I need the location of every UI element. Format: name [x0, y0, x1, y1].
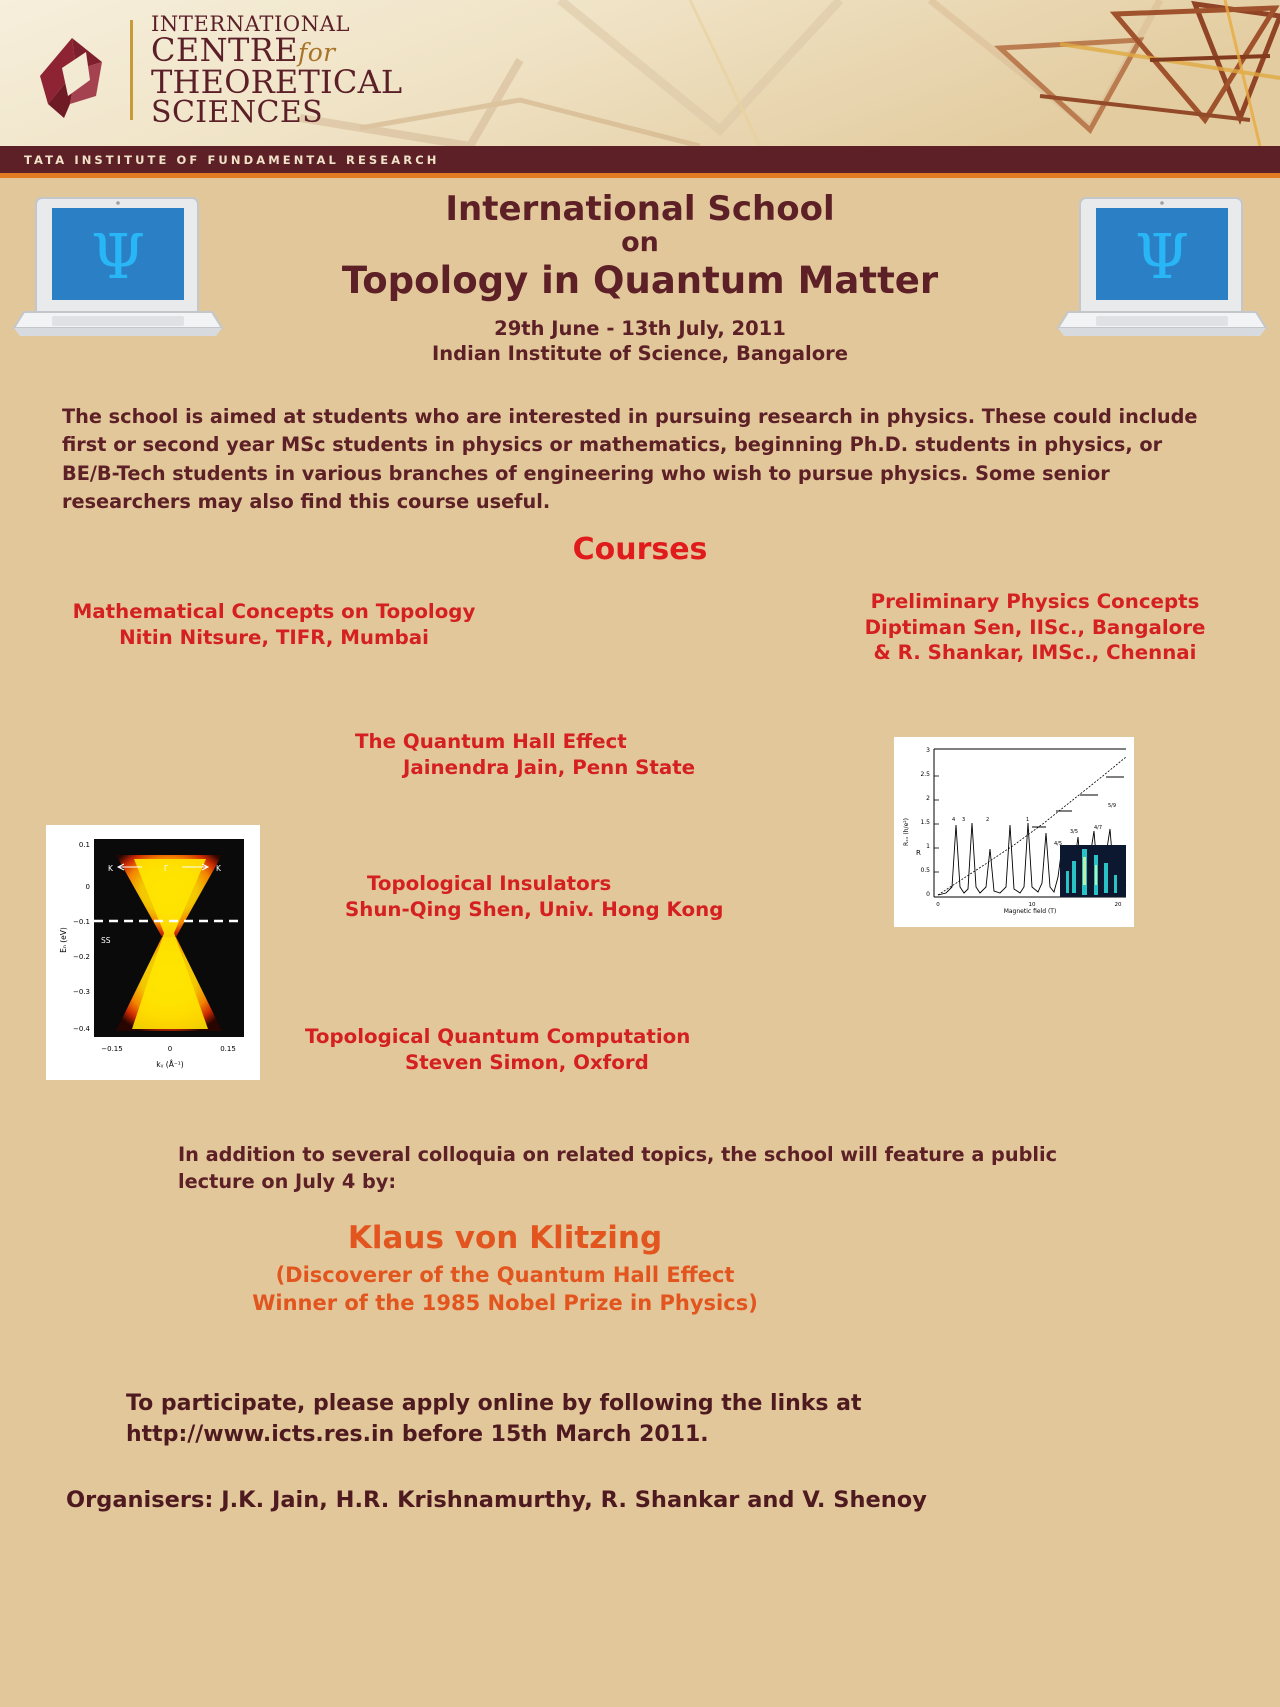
svg-text:Eₙ (eV): Eₙ (eV) [59, 927, 68, 953]
svg-text:2: 2 [926, 795, 930, 802]
svg-text:2: 2 [986, 817, 989, 823]
svg-text:R: R [916, 849, 921, 857]
course-item-0: Mathematical Concepts on Topology Nitin … [34, 599, 514, 650]
svg-text:3/5: 3/5 [1070, 829, 1078, 835]
course-speaker: Jainendra Jain, Penn State [355, 755, 695, 781]
course-title: Topological Insulators [345, 871, 723, 897]
apply-instructions: To participate, please apply online by f… [126, 1388, 1146, 1451]
svg-text:3: 3 [962, 817, 965, 823]
laptop-illustration-left: Ψ [8, 190, 228, 355]
svg-text:0.5: 0.5 [920, 867, 930, 874]
logo-line-theoretical: THEORETICAL [151, 67, 402, 99]
svg-text:0.15: 0.15 [220, 1045, 236, 1053]
arpes-dirac-cone-figure: K Γ K SS 0.10 −0.1−0.2 −0.3−0.4 Eₙ (eV) … [46, 825, 260, 1080]
svg-text:−0.4: −0.4 [73, 1025, 91, 1033]
svg-text:4: 4 [952, 817, 955, 823]
public-lecture-credential-2: Winner of the 1985 Nobel Prize in Physic… [0, 1290, 1010, 1318]
icts-diamond-logo-icon [34, 18, 112, 128]
svg-text:2.5: 2.5 [920, 771, 930, 778]
svg-text:Ψ: Ψ [91, 220, 145, 293]
svg-text:0: 0 [168, 1045, 172, 1053]
svg-text:1: 1 [1026, 817, 1029, 823]
svg-text:1.5: 1.5 [920, 819, 930, 826]
course-speaker: Steven Simon, Oxford [305, 1050, 690, 1076]
svg-text:0: 0 [926, 891, 930, 898]
courses-heading: Courses [0, 532, 1280, 567]
course-item-3: Topological Insulators Shun-Qing Shen, U… [345, 871, 723, 922]
header-banner: INTERNATIONAL CENTREfor THEORETICAL SCIE… [0, 0, 1280, 146]
course-speaker: Diptiman Sen, IISc., Bangalore [820, 615, 1250, 641]
quantum-hall-resistance-figure: 32.5 21.5 10.5 0 Rₓₓ (h/e²) R [894, 737, 1134, 927]
svg-text:0: 0 [86, 883, 90, 891]
course-speaker: Shun-Qing Shen, Univ. Hong Kong [345, 897, 723, 923]
svg-text:−0.1: −0.1 [73, 918, 90, 926]
svg-text:10: 10 [1029, 902, 1036, 908]
svg-text:3: 3 [926, 747, 930, 754]
course-item-4: Topological Quantum Computation Steven S… [305, 1024, 690, 1075]
svg-text:0.1: 0.1 [79, 841, 90, 849]
apply-url[interactable]: http://www.icts.res.in [126, 1422, 394, 1447]
icts-logo: INTERNATIONAL CENTREfor THEORETICAL SCIE… [34, 14, 402, 128]
course-title: Preliminary Physics Concepts [820, 589, 1250, 615]
svg-text:Rₓₓ (h/e²): Rₓₓ (h/e²) [903, 818, 910, 846]
apply-deadline: before 15th March 2011. [402, 1422, 709, 1447]
organisers-line: Organisers: J.K. Jain, H.R. Krishnamurth… [66, 1487, 1280, 1513]
apply-text-prefix: To participate, please apply online by f… [126, 1391, 862, 1416]
svg-text:−0.15: −0.15 [101, 1045, 122, 1053]
logo-line-sciences: SCIENCES [151, 98, 402, 128]
logo-divider-rule [130, 20, 133, 120]
svg-text:Magnetic field (T): Magnetic field (T) [1004, 908, 1057, 915]
courses-top-row: Mathematical Concepts on Topology Nitin … [0, 589, 1280, 693]
public-lecture-speaker: Klaus von Klitzing [0, 1220, 1010, 1256]
course-title: Mathematical Concepts on Topology [34, 599, 514, 625]
public-lecture-credential-1: (Discoverer of the Quantum Hall Effect [0, 1262, 1010, 1290]
course-speaker-2: & R. Shankar, IMSc., Chennai [820, 640, 1250, 666]
svg-text:1: 1 [926, 843, 930, 850]
svg-text:5/9: 5/9 [1108, 803, 1116, 809]
svg-text:Ψ: Ψ [1135, 220, 1189, 293]
public-lecture-intro: In addition to several colloquia on rela… [178, 1141, 1098, 1196]
svg-text:0: 0 [936, 902, 940, 908]
course-title: Topological Quantum Computation [305, 1024, 690, 1050]
laptop-illustration-right: Ψ [1052, 190, 1272, 355]
svg-text:SS: SS [101, 936, 111, 945]
svg-text:−0.3: −0.3 [73, 988, 90, 996]
course-title: The Quantum Hall Effect [355, 729, 695, 755]
svg-text:4/7: 4/7 [1094, 825, 1102, 831]
courses-middle-zone: 32.5 21.5 10.5 0 Rₓₓ (h/e²) R [0, 729, 1280, 1119]
course-item-1: Preliminary Physics Concepts Diptiman Se… [820, 589, 1250, 666]
institute-bar: TATA INSTITUTE OF FUNDAMENTAL RESEARCH [0, 146, 1280, 173]
course-item-2: The Quantum Hall Effect Jainendra Jain, … [355, 729, 695, 780]
svg-text:−0.2: −0.2 [73, 953, 90, 961]
svg-text:kᵧ (Å⁻¹): kᵧ (Å⁻¹) [156, 1060, 184, 1069]
intro-paragraph: The school is aimed at students who are … [62, 403, 1218, 516]
svg-text:20: 20 [1115, 902, 1122, 908]
institute-bar-label: TATA INSTITUTE OF FUNDAMENTAL RESEARCH [0, 153, 440, 167]
course-speaker: Nitin Nitsure, TIFR, Mumbai [34, 625, 514, 651]
